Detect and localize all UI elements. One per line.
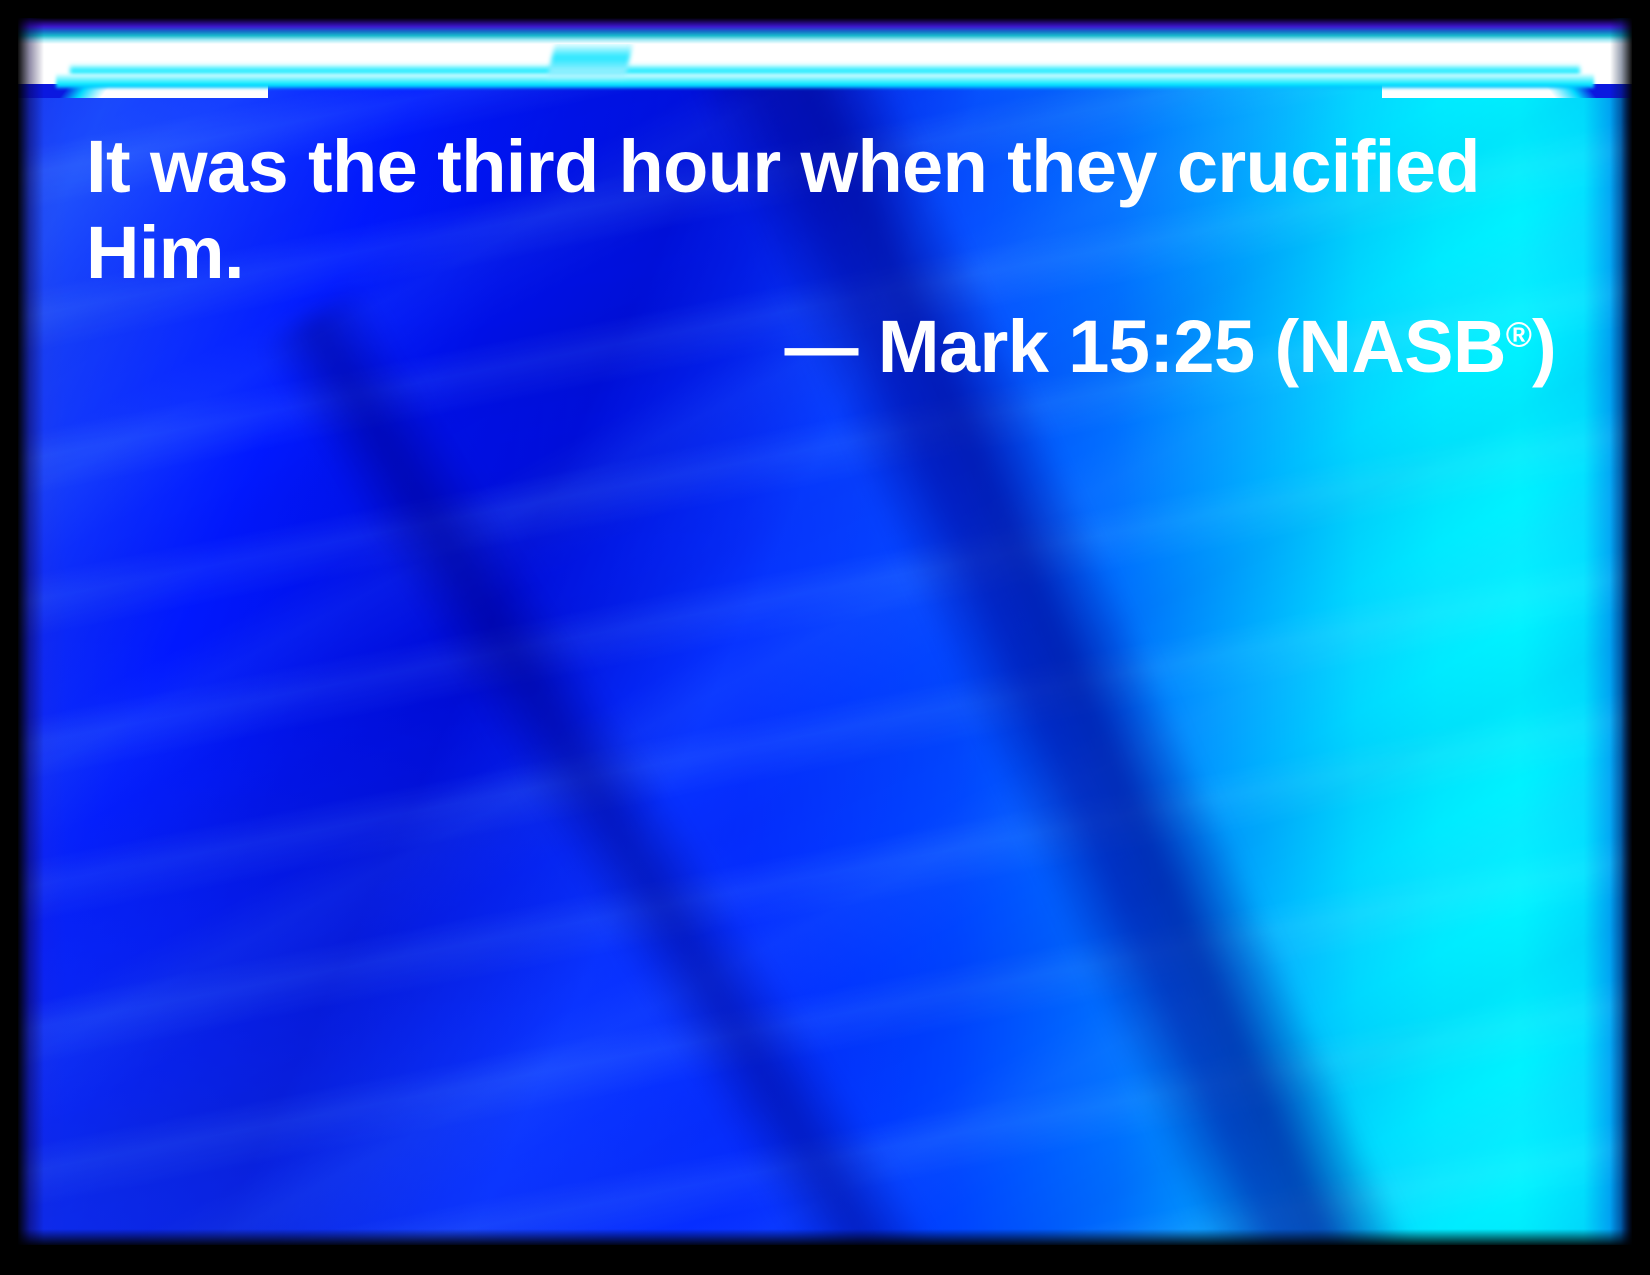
verse-citation: — Mark 15:25 (NASB®): [86, 304, 1556, 390]
background-lower-left-glow: [18, 545, 1118, 1245]
banner-bottom-edge: [56, 74, 1594, 88]
verse-text: It was the third hour when they crucifie…: [86, 124, 1486, 296]
citation-em-dash: —: [785, 305, 858, 388]
citation-reference: Mark 15:25: [878, 305, 1255, 388]
citation-translation-open: (NASB: [1255, 305, 1506, 388]
slide-canvas: It was the third hour when they crucifie…: [18, 18, 1632, 1245]
banner-top-gradient: [18, 18, 1632, 44]
banner-cyan-notch: [547, 42, 633, 80]
citation-spacer: [858, 305, 878, 388]
registered-trademark-icon: ®: [1506, 314, 1532, 354]
scripture-slide: It was the third hour when they crucifie…: [0, 0, 1650, 1275]
citation-translation-close: ): [1532, 305, 1556, 388]
